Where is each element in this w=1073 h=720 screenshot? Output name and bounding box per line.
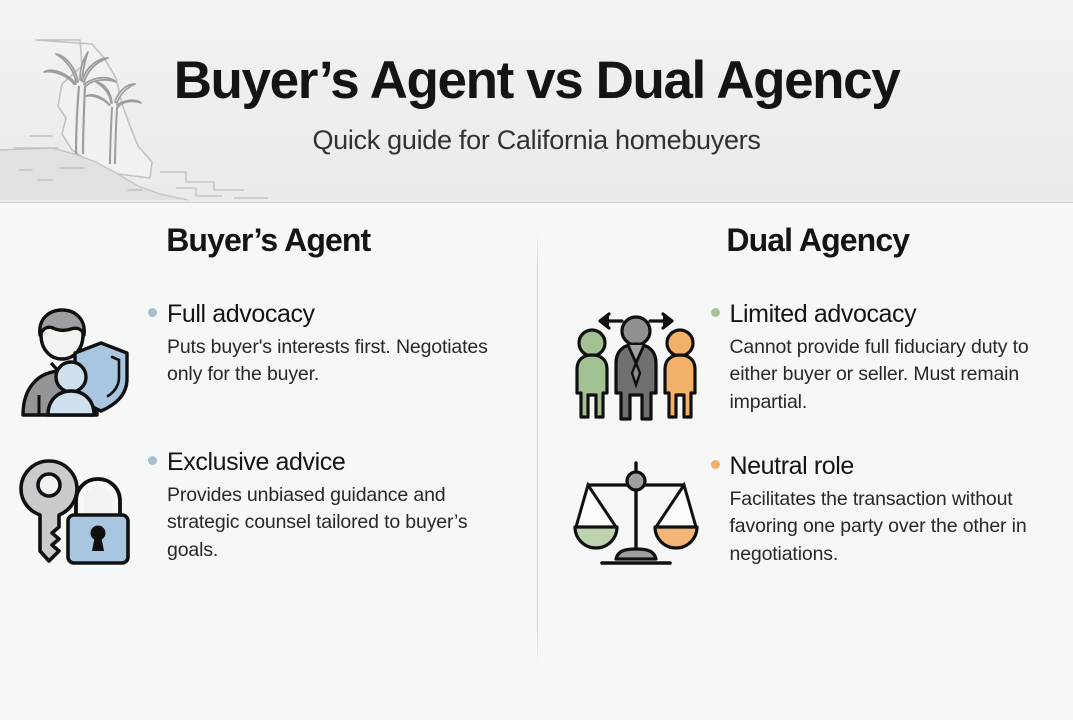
key-and-padlock-icon — [0, 449, 148, 567]
heading-row: Exclusive advice — [148, 449, 519, 477]
infographic-root: Buyer’s Agent vs Dual Agency Quick guide… — [0, 0, 1073, 720]
heading-row: Full advocacy — [148, 301, 519, 329]
items-list-dual-agency: Limited advocacy Cannot provide full fid… — [537, 301, 1073, 571]
item-heading: Neutral role — [730, 453, 854, 481]
item-description: Puts buyer's interests first. Negotiates… — [148, 334, 519, 389]
item-description: Cannot provide full fiduciary duty to ei… — [711, 334, 1056, 417]
header-text-block: Buyer’s Agent vs Dual Agency Quick guide… — [0, 0, 1073, 203]
column-dual-agency: Dual Agency — [537, 203, 1073, 720]
item-description: Facilitates the transaction without favo… — [711, 486, 1056, 569]
bullet-dot — [711, 308, 720, 317]
bullet-dot — [711, 460, 720, 469]
column-title-dual-agency: Dual Agency — [537, 217, 1073, 263]
bullet-dot — [148, 456, 157, 465]
heading-row: Neutral role — [711, 453, 1056, 481]
list-item-text: Neutral role Facilitates the transaction… — [711, 453, 1073, 569]
item-heading: Full advocacy — [167, 301, 315, 329]
heading-row: Limited advocacy — [711, 301, 1056, 329]
item-heading: Limited advocacy — [730, 301, 917, 329]
item-description: Provides unbiased guidance and strategic… — [148, 482, 519, 565]
person-with-shield-icon — [0, 301, 148, 419]
list-item: Limited advocacy Cannot provide full fid… — [537, 301, 1073, 423]
page-title: Buyer’s Agent vs Dual Agency — [174, 53, 900, 109]
header-banner: Buyer’s Agent vs Dual Agency Quick guide… — [0, 0, 1073, 203]
item-heading: Exclusive advice — [167, 449, 345, 477]
list-item-text: Exclusive advice Provides unbiased guida… — [148, 449, 537, 565]
list-item: Full advocacy Puts buyer's interests fir… — [0, 301, 537, 419]
list-item-text: Full advocacy Puts buyer's interests fir… — [148, 301, 537, 389]
items-list-buyers-agent: Full advocacy Puts buyer's interests fir… — [0, 301, 537, 567]
column-buyers-agent: Buyer’s Agent — [0, 203, 537, 720]
bullet-dot — [148, 308, 157, 317]
three-people-with-arrows-icon — [561, 301, 711, 423]
page-subtitle: Quick guide for California homebuyers — [312, 125, 760, 156]
column-title-buyers-agent: Buyer’s Agent — [0, 217, 537, 263]
list-item: Neutral role Facilitates the transaction… — [537, 453, 1073, 571]
balance-scales-icon — [561, 453, 711, 571]
comparison-columns: Buyer’s Agent — [0, 203, 1073, 720]
column-divider — [537, 229, 538, 666]
list-item: Exclusive advice Provides unbiased guida… — [0, 449, 537, 567]
list-item-text: Limited advocacy Cannot provide full fid… — [711, 301, 1073, 417]
